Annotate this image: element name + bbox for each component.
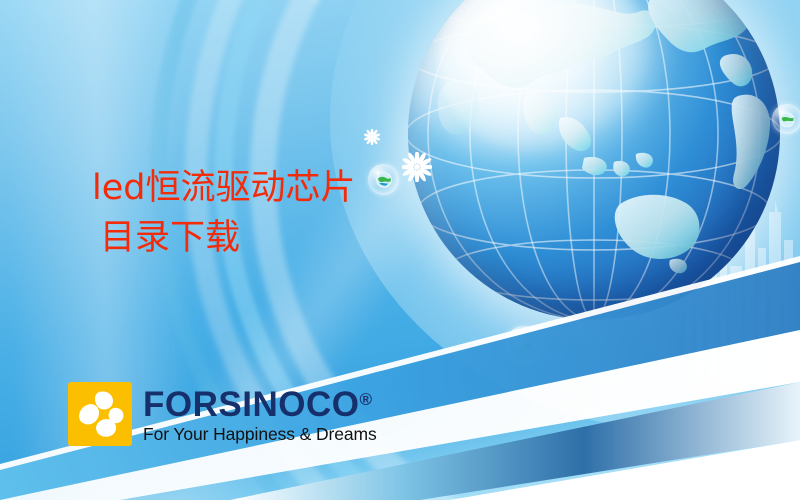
headline: led恒流驱动芯片 目录下载 xyxy=(92,163,355,264)
world-globe xyxy=(408,0,780,320)
white-starburst-icon xyxy=(364,129,380,145)
mini-globe-icon xyxy=(375,172,391,188)
pinwheel-flower-icon xyxy=(68,382,132,446)
registered-mark: ® xyxy=(359,390,372,409)
logo-mark xyxy=(68,382,132,446)
brand-tagline: For Your Happiness & Dreams xyxy=(143,424,377,444)
brand-logo[interactable]: FORSINOCO® For Your Happiness & Dreams xyxy=(68,382,377,446)
white-daisy-icon xyxy=(402,152,432,182)
banner-image: led恒流驱动芯片 目录下载 FORSINOCO® For Your Happi… xyxy=(0,0,800,500)
bubble-with-globe xyxy=(368,164,399,195)
logo-text: FORSINOCO® For Your Happiness & Dreams xyxy=(143,382,377,444)
mini-globe-icon xyxy=(779,112,795,128)
leaf-icon xyxy=(514,336,534,356)
headline-line-2: 目录下载 xyxy=(92,213,355,263)
brand-name-text: FORSINOCO xyxy=(143,385,359,424)
brand-name: FORSINOCO® xyxy=(143,382,377,423)
headline-line-1: led恒流驱动芯片 xyxy=(92,163,355,213)
bubble-small-right xyxy=(772,104,800,134)
bubble-with-leaf xyxy=(505,326,543,364)
